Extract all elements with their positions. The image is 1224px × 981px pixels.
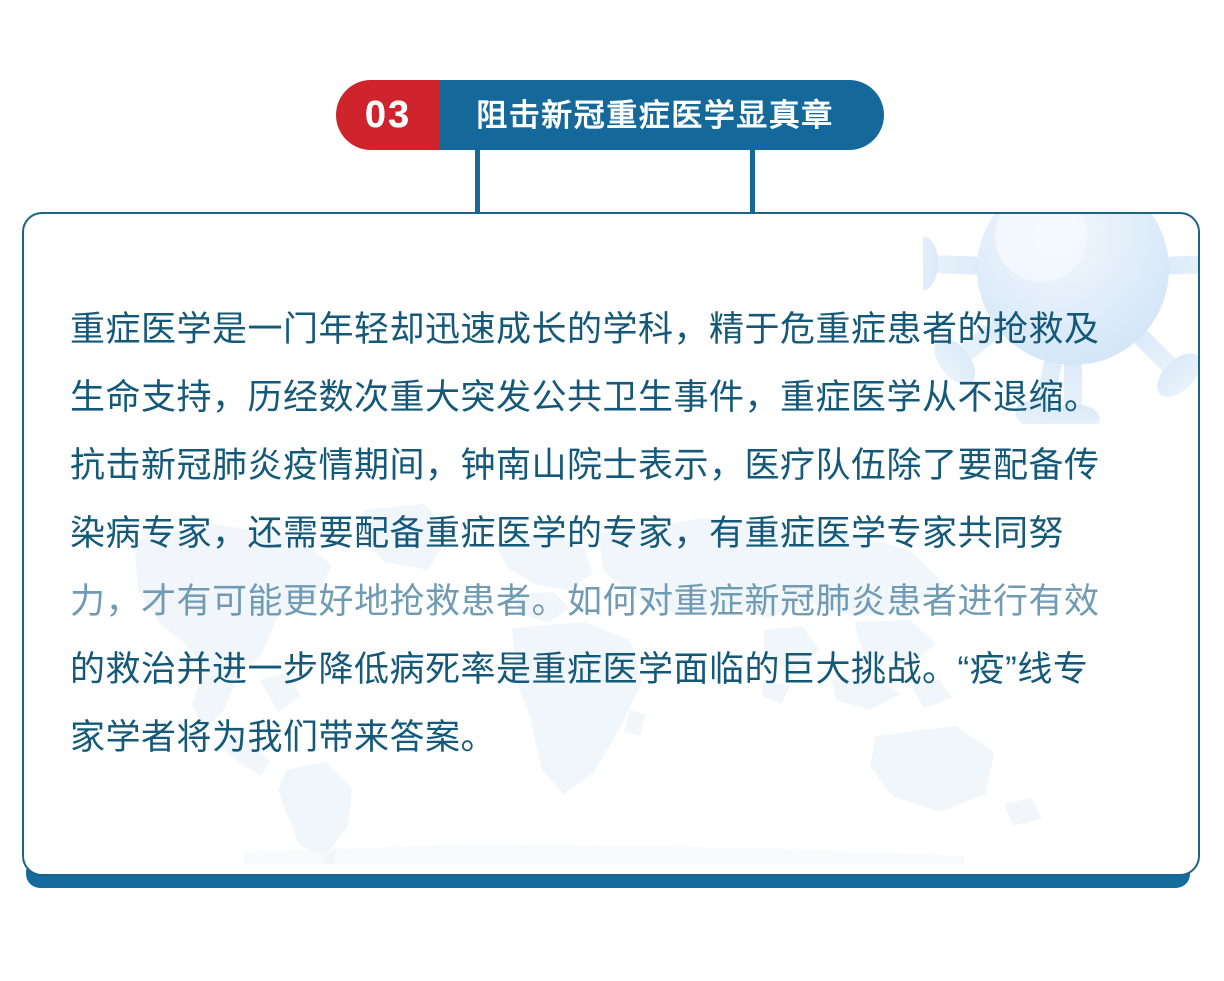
body-line: 生命支持，历经数次重大突发公共卫生事件，重症医学从不退缩。 [70, 364, 1160, 432]
body-line: 力，才有可能更好地抢救患者。如何对重症新冠肺炎患者进行有效 [70, 568, 1160, 636]
body-line: 重症医学是一门年轻却迅速成长的学科，精于危重症患者的抢救及 [70, 296, 1160, 364]
body-line: 家学者将为我们带来答案。 [70, 704, 1160, 772]
section-number-text: 03 [365, 96, 411, 134]
section-title-container: 阻击新冠重症医学显真章 [440, 80, 884, 150]
section-number-badge: 03 [336, 80, 440, 150]
section-title-text: 阻击新冠重症医学显真章 [476, 100, 834, 131]
content-card: 重症医学是一门年轻却迅速成长的学科，精于危重症患者的抢救及 生命支持，历经数次重… [22, 212, 1200, 876]
poster-stage: 03 阻击新冠重症医学显真章 [0, 0, 1224, 981]
body-line: 抗击新冠肺炎疫情期间，钟南山院士表示，医疗队伍除了要配备传 [70, 432, 1160, 500]
body-line: 的救治并进一步降低病死率是重症医学面临的巨大挑战。“疫”线专 [70, 636, 1160, 704]
section-header-pill[interactable]: 03 阻击新冠重症医学显真章 [336, 80, 884, 150]
body-line: 染病专家，还需要配备重症医学的专家，有重症医学专家共同努 [70, 500, 1160, 568]
card-body-text: 重症医学是一门年轻却迅速成长的学科，精于危重症患者的抢救及 生命支持，历经数次重… [70, 296, 1160, 772]
